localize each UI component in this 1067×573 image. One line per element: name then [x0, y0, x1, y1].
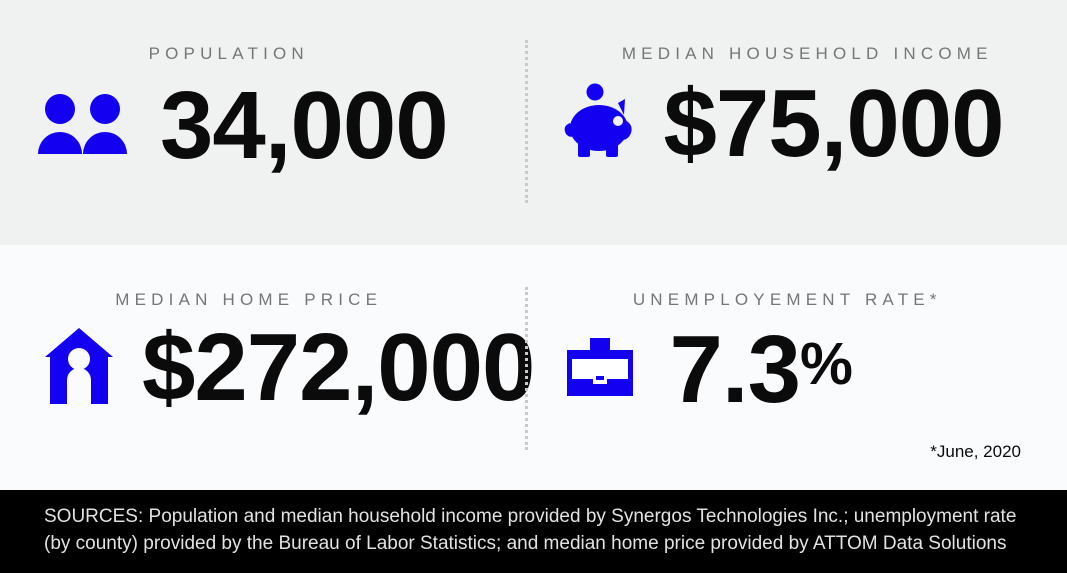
footnote-date: *June, 2020: [930, 442, 1021, 462]
sources-line-1: SOURCES: Population and median household…: [44, 504, 1023, 531]
stat-card-median-home-price: MEDIAN HOME PRICE $272,000: [0, 245, 534, 490]
house-icon: [44, 326, 114, 409]
stats-band-bottom: MEDIAN HOME PRICE $272,000 UNEM: [0, 245, 1067, 490]
stat-card-population: POPULATION 34,000: [0, 0, 534, 245]
briefcase-icon: [566, 337, 634, 402]
stat-value-population: 34,000: [160, 80, 448, 171]
stat-value-unemployment-rate: 7.3%: [670, 324, 852, 415]
sources-footer: SOURCES: Population and median household…: [0, 490, 1067, 573]
stat-value-median-home-price: $272,000: [142, 322, 534, 413]
piggy-bank-icon: [562, 83, 636, 164]
stat-label-median-home-price: MEDIAN HOME PRICE: [0, 290, 534, 310]
stat-row-population: 34,000: [0, 80, 534, 171]
sources-line-2: (by county) provided by the Bureau of La…: [44, 531, 1023, 558]
stat-label-population: POPULATION: [0, 44, 534, 64]
stat-row-unemployment-rate: 7.3%: [534, 324, 1067, 415]
stat-value-unemployment-number: 7.3: [670, 316, 800, 423]
people-icon: [38, 92, 128, 159]
stat-card-median-household-income: MEDIAN HOUSEHOLD INCOME: [534, 0, 1067, 245]
vertical-dotted-divider-bottom: [525, 287, 531, 450]
infographic-root: POPULATION 34,000 MEDIAN HOUSEHOLD INCOM…: [0, 0, 1067, 573]
stat-row-median-home-price: $272,000: [0, 322, 534, 413]
stat-value-median-household-income: $75,000: [664, 78, 1004, 169]
stat-row-median-household-income: $75,000: [534, 78, 1067, 169]
stat-label-median-household-income: MEDIAN HOUSEHOLD INCOME: [534, 44, 1067, 64]
stat-label-unemployment-rate: UNEMPLOYEMENT RATE*: [534, 290, 1067, 310]
stats-band-top: POPULATION 34,000 MEDIAN HOUSEHOLD INCOM…: [0, 0, 1067, 245]
percent-sign: %: [800, 330, 852, 397]
vertical-dotted-divider-top: [525, 40, 531, 203]
